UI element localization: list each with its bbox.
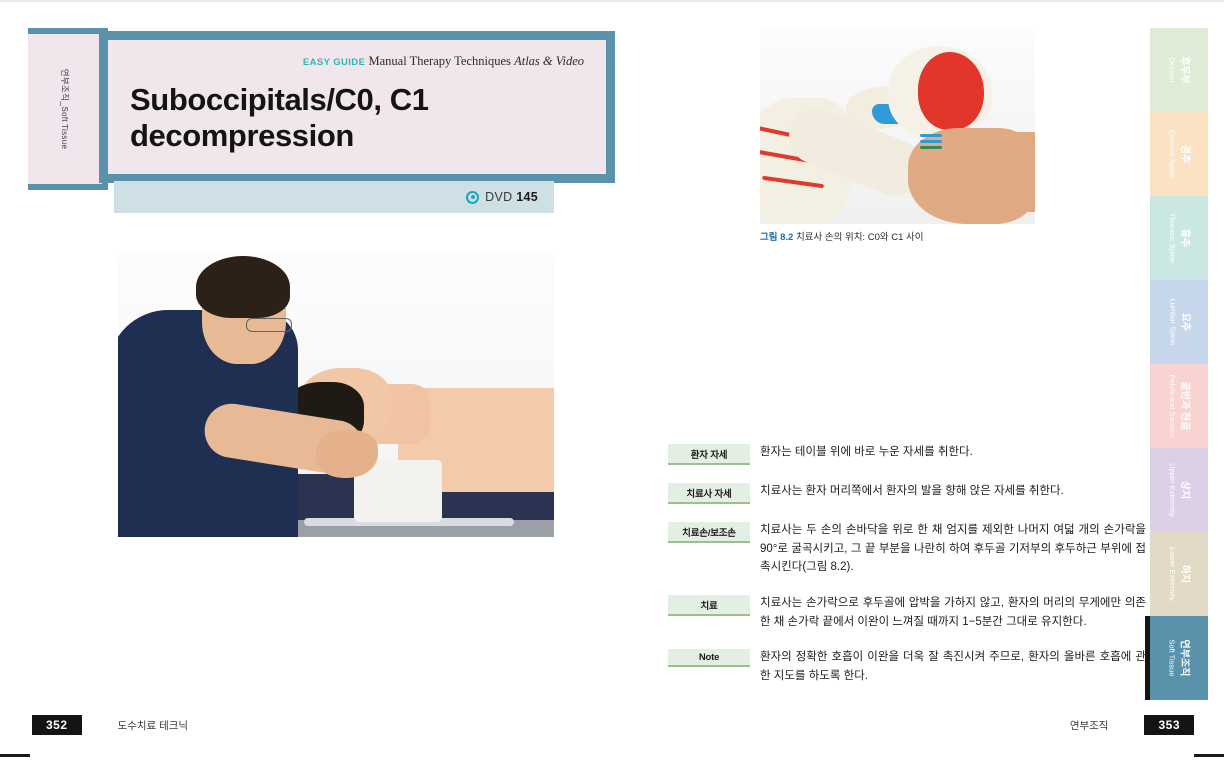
instruction-chip: 환자 자세 [668, 444, 750, 465]
chapter-tab-lumbar-spine[interactable]: 요추 Lumbar Spine [1150, 280, 1208, 364]
instruction-chip: Note [668, 649, 750, 667]
model-red-muscle-marking [918, 52, 984, 130]
footer-section-title: 연부조직 [1070, 718, 1109, 733]
instruction-text: 치료사는 두 손의 손바닥을 위로 한 채 엄지를 제외한 나머지 여덟 개의 … [750, 521, 1146, 577]
chapter-tab-label-en: Upper Extremity [1168, 463, 1177, 517]
chapter-tab-label-en: Soft Tissue [1168, 639, 1177, 676]
instruction-row: 치료손/보조손 치료사는 두 손의 손바닥을 위로 한 채 엄지를 제외한 나머… [668, 521, 1146, 577]
chapter-tab-label-ko: 연부조직 [1177, 639, 1190, 676]
chapter-tab-label-en: Cervical Spine [1168, 130, 1177, 178]
contact-point-marking [920, 146, 942, 149]
dvd-label: DVD 145 [485, 190, 538, 204]
instruction-chip: 치료사 자세 [668, 483, 750, 504]
dvd-text: DVD [485, 190, 512, 204]
chapter-tab-label-ko: 하지 [1177, 547, 1190, 601]
chapter-side-label-ko: 연부조직 [60, 69, 70, 101]
instruction-text: 치료사는 환자 머리쪽에서 환자의 발을 향해 앉은 자세를 취한다. [750, 482, 1146, 504]
figure-caption-number: 그림 8.2 [760, 232, 793, 243]
chapter-tab-thoracic-spine[interactable]: 흉추 Thoracic Spine [1150, 196, 1208, 280]
instruction-chip-wrap: Note [668, 648, 750, 685]
chapter-side-card-inner: 연부조직_Soft Tissue [28, 34, 102, 184]
figure-caption: 그림 8.2 치료사 손의 위치: C0와 C1 사이 [760, 229, 924, 243]
page-number-left: 352 [32, 715, 82, 735]
chapter-tab-label-ko: 경추 [1177, 130, 1190, 178]
chapter-tab-label-ko: 후두부 [1177, 56, 1190, 84]
footer-right: 연부조직 353 [1070, 715, 1194, 735]
instruction-row: 환자 자세 환자는 테이블 위에 바로 누운 자세를 취한다. [668, 443, 1146, 465]
therapist-hands [316, 430, 378, 478]
easy-guide-badge: EASY GUIDE [303, 57, 365, 68]
chapter-tab-label-ko: 흉추 [1177, 213, 1190, 263]
therapist-glasses [246, 318, 292, 332]
figure-photo [760, 28, 1035, 224]
page-number-right: 353 [1144, 715, 1194, 735]
chapter-tab-strip: 후두부 Occiput 경추 Cervical Spine 흉추 Thoraci… [1150, 28, 1208, 700]
page-title: Suboccipitals/C0, C1 decompression [130, 82, 584, 155]
series-subtitle: Atlas & Video [514, 54, 584, 68]
chapter-tab-cervical-spine[interactable]: 경추 Cervical Spine [1150, 112, 1208, 196]
chapter-tab-label-en: Thoracic Spine [1168, 213, 1177, 263]
instruction-chip-wrap: 치료 [668, 594, 750, 631]
left-page: 연부조직_Soft Tissue EASY GUIDE Manual Thera… [0, 0, 612, 763]
chapter-tab-label-en: Lumbar Spine [1168, 299, 1177, 346]
chapter-tab-upper-extremity[interactable]: 상지 Upper Extremity [1150, 448, 1208, 532]
series-eyebrow: EASY GUIDE Manual Therapy Techniques Atl… [130, 54, 584, 70]
dvd-number: 145 [516, 190, 538, 204]
chapter-side-card: 연부조직_Soft Tissue [28, 28, 108, 190]
instruction-chip: 치료 [668, 595, 750, 616]
series-title: Manual Therapy Techniques [369, 54, 511, 68]
chapter-side-label-en: Soft Tissue [60, 106, 69, 149]
instruction-list: 환자 자세 환자는 테이블 위에 바로 누운 자세를 취한다. 치료사 자세 치… [668, 443, 1146, 702]
title-card: EASY GUIDE Manual Therapy Techniques Atl… [99, 31, 615, 183]
instruction-row: Note 환자의 정확한 호흡이 이완을 더욱 잘 촉진시켜 주므로, 환자의 … [668, 648, 1146, 685]
chapter-tab-soft-tissue[interactable]: 연부조직 Soft Tissue [1150, 616, 1208, 700]
instruction-row: 치료 치료사는 손가락으로 후두골에 압박을 가하지 않고, 환자의 머리의 무… [668, 594, 1146, 631]
instruction-text: 치료사는 손가락으로 후두골에 압박을 가하지 않고, 환자의 머리의 무게에만… [750, 594, 1146, 631]
instruction-chip-wrap: 치료손/보조손 [668, 521, 750, 577]
chapter-tab-label-en: Lower Extremity [1168, 547, 1177, 601]
instruction-text: 환자의 정확한 호흡이 이완을 더욱 잘 촉진시켜 주므로, 환자의 올바른 호… [750, 648, 1146, 685]
chapter-tab-label-ko: 상지 [1177, 463, 1190, 517]
technique-photo [118, 252, 554, 537]
chapter-tab-label-ko: 요추 [1177, 299, 1190, 346]
instruction-text: 환자는 테이블 위에 바로 누운 자세를 취한다. [750, 443, 1146, 465]
chapter-tab-lower-extremity[interactable]: 하지 Lower Extremity [1150, 532, 1208, 616]
chapter-tab-label-en: Occiput [1168, 56, 1177, 84]
instruction-chip-wrap: 환자 자세 [668, 443, 750, 465]
footer-left: 352 도수치료 테크닉 [32, 715, 188, 735]
chapter-tab-label-ko: 골반과 천골 [1177, 375, 1190, 438]
dvd-disc-icon [466, 191, 479, 204]
chapter-side-label: 연부조직_Soft Tissue [59, 69, 71, 149]
instruction-chip: 치료손/보조손 [668, 522, 750, 543]
contact-point-marking [920, 134, 942, 137]
chapter-tab-label-en: Pelvis and Sacrum [1168, 375, 1177, 438]
title-card-inner: EASY GUIDE Manual Therapy Techniques Atl… [108, 40, 606, 174]
chapter-tab-pelvis-sacrum[interactable]: 골반과 천골 Pelvis and Sacrum [1150, 364, 1208, 448]
right-page: 그림 8.2 치료사 손의 위치: C0와 C1 사이 환자 자세 환자는 테이… [612, 0, 1224, 763]
footer-book-title: 도수치료 테크닉 [118, 718, 189, 733]
figure-caption-text: 치료사 손의 위치: C0와 C1 사이 [796, 232, 924, 243]
instruction-chip-wrap: 치료사 자세 [668, 482, 750, 504]
chapter-tab-occiput[interactable]: 후두부 Occiput [1150, 28, 1208, 112]
instruction-row: 치료사 자세 치료사는 환자 머리쪽에서 환자의 발을 향해 앉은 자세를 취한… [668, 482, 1146, 504]
therapist-hair [196, 256, 290, 318]
dvd-strip: DVD 145 [114, 181, 554, 213]
contact-point-marking [920, 140, 942, 143]
